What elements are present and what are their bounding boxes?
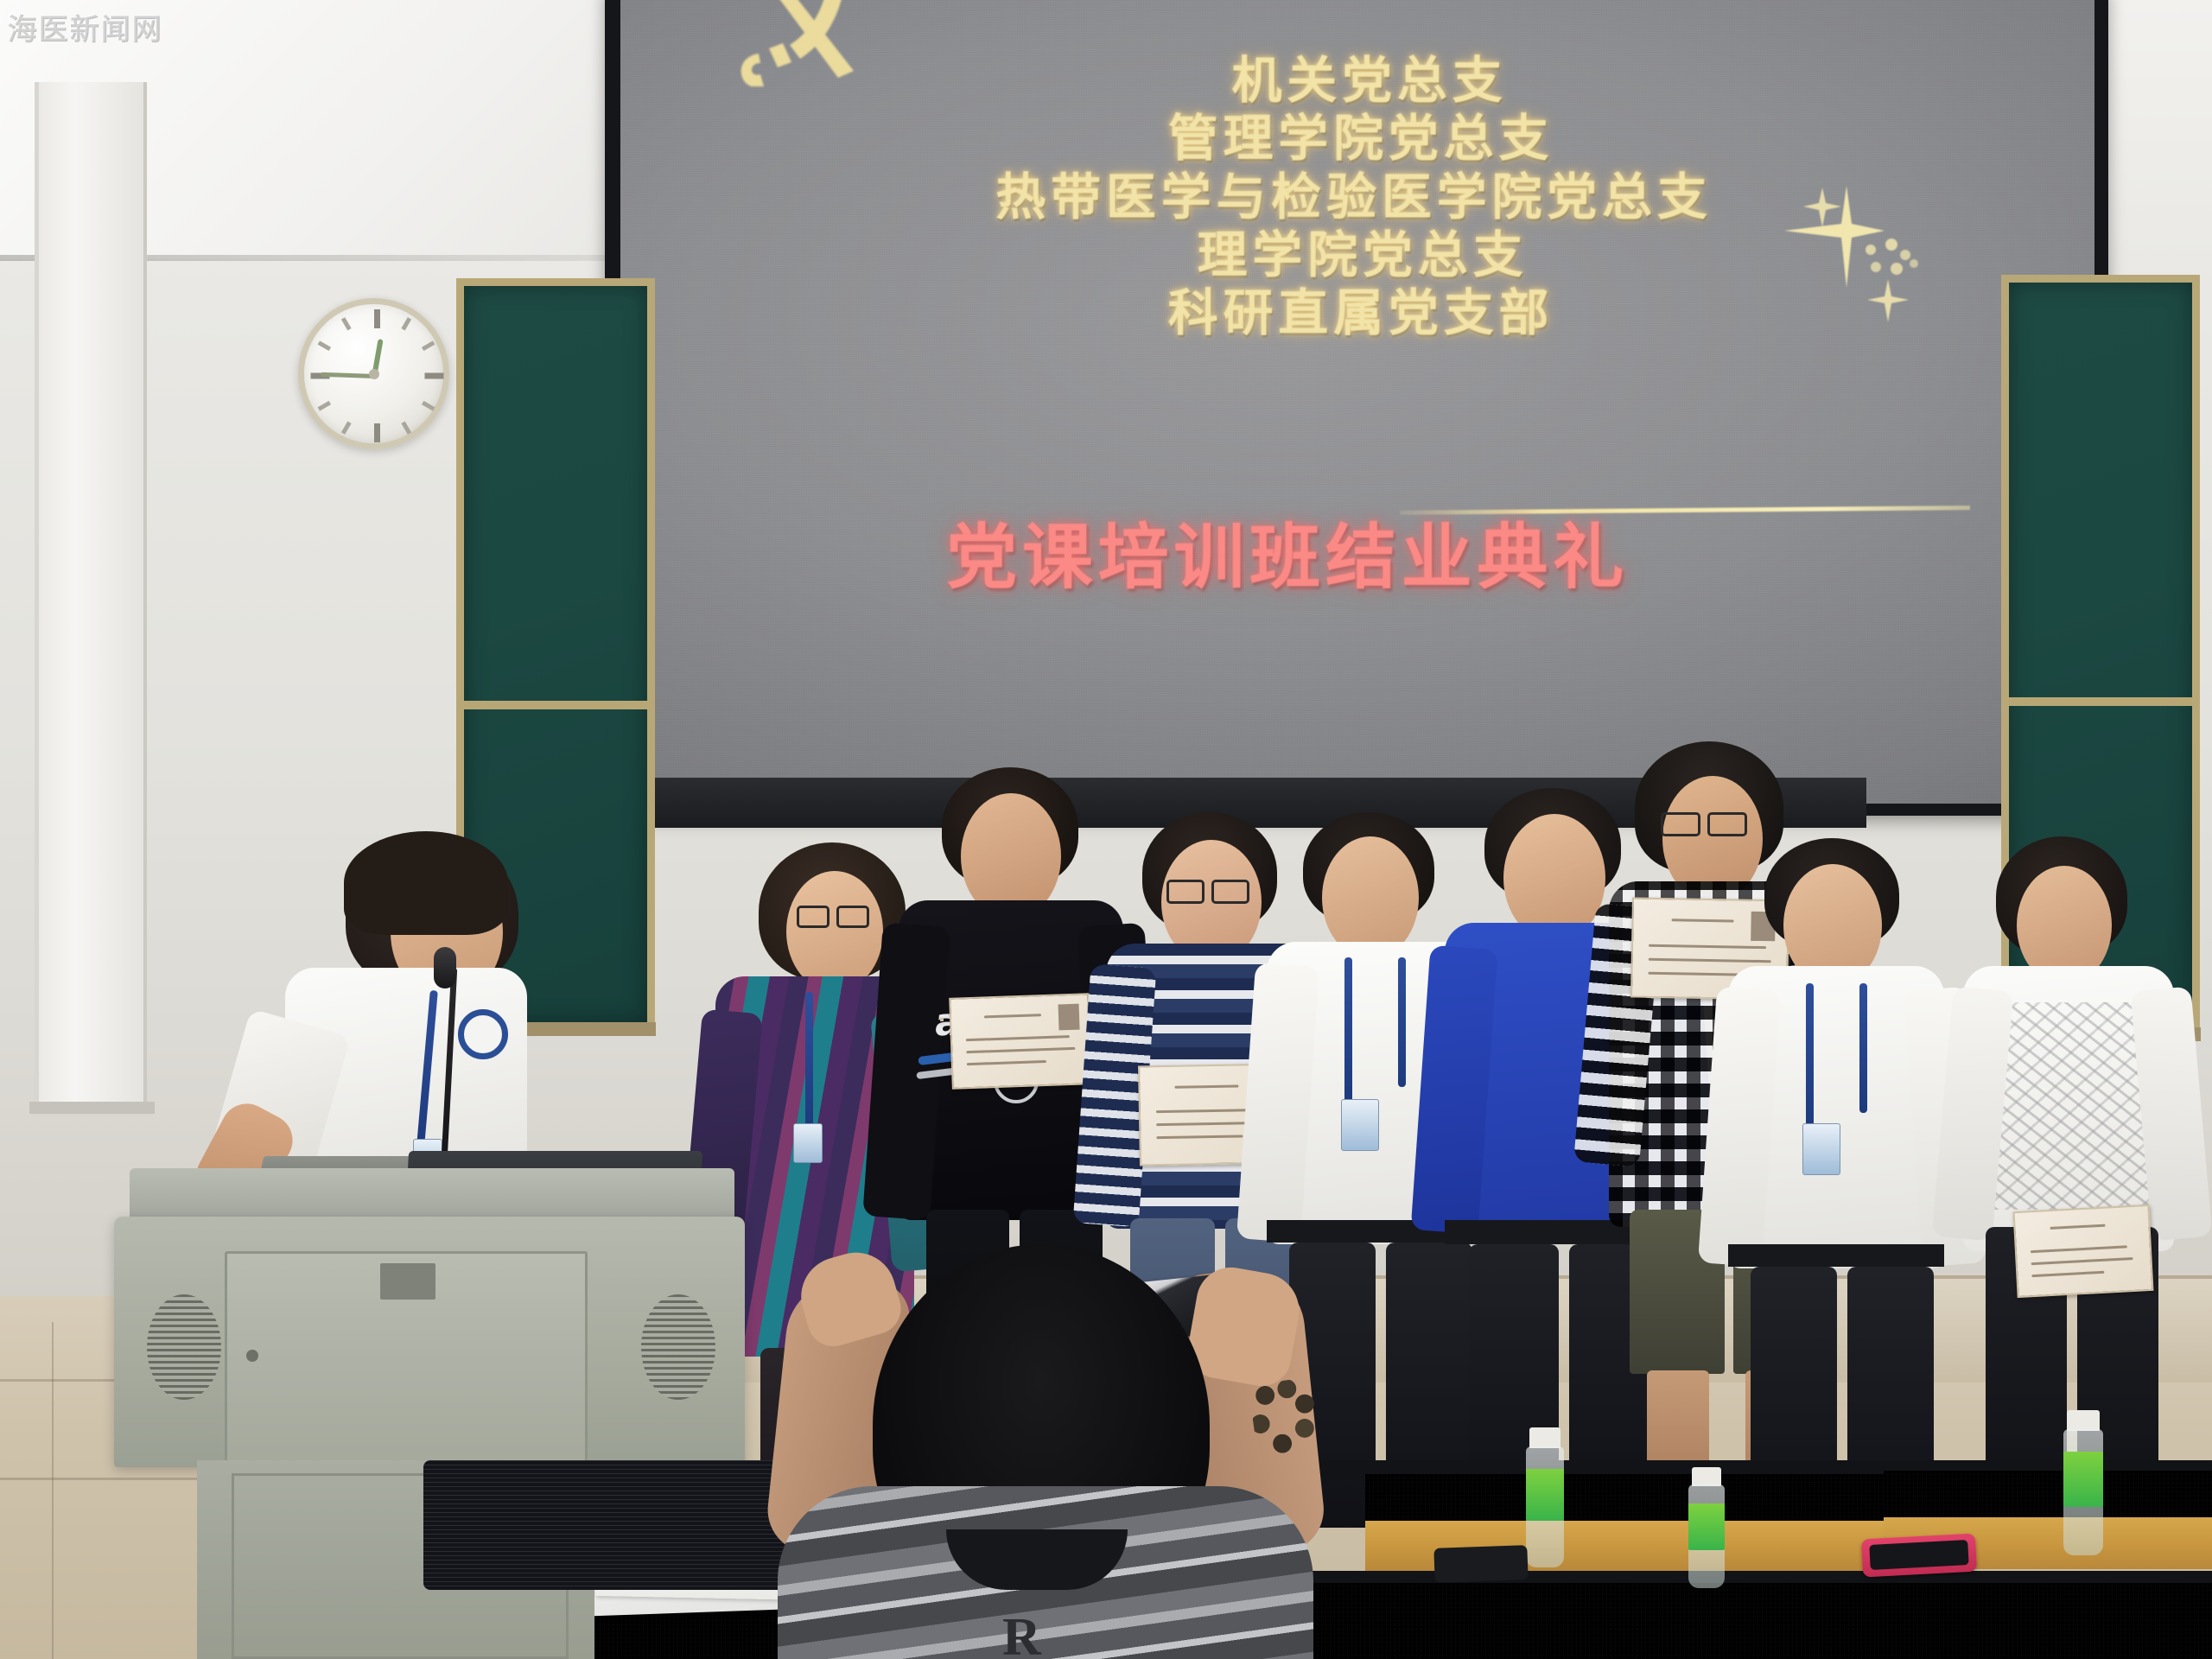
watermark: 海医新闻网 [7, 5, 162, 48]
certificate-1 [949, 993, 1092, 1090]
speaker-grille-right [641, 1294, 715, 1400]
desk-front-right [1884, 1471, 2212, 1517]
clock-center-pin [369, 369, 379, 379]
slide-line-2: 管理学院党总支 [665, 110, 2056, 168]
microphone-head [434, 947, 456, 988]
slide-line-1: 机关党总支 [683, 52, 2056, 110]
slide-title: 党课培训班结业典礼 [588, 499, 1987, 602]
photographer-shirt-logo: R [1002, 1607, 1080, 1657]
door-ledge [29, 1102, 155, 1114]
speaker-grille-left [147, 1294, 221, 1400]
bottle-label [2063, 1452, 2103, 1507]
certificate-4 [2012, 1205, 2153, 1298]
bottle-label [1688, 1503, 1725, 1550]
sparkle-star-decoration [1784, 177, 1974, 350]
photo-scene: 机关党总支 管理学院党总支 热带医学与检验医学院党总支 理学院党总支 科研直属党… [0, 0, 2212, 1659]
desk-front-center [1365, 1474, 1884, 1521]
lectern-lock[interactable] [246, 1350, 258, 1362]
certificate [940, 1018, 944, 1021]
id-badge [1802, 1123, 1840, 1175]
black-smartphone[interactable] [1433, 1545, 1528, 1583]
door-frame [35, 82, 147, 1102]
bead-bracelet [1248, 1376, 1321, 1459]
wall-clock [298, 298, 449, 449]
id-badge [793, 1123, 823, 1163]
bottle-label [1526, 1469, 1564, 1521]
lectern-plate [380, 1263, 435, 1300]
id-badge [1341, 1099, 1379, 1151]
pink-smartphone[interactable] [1861, 1534, 1977, 1578]
